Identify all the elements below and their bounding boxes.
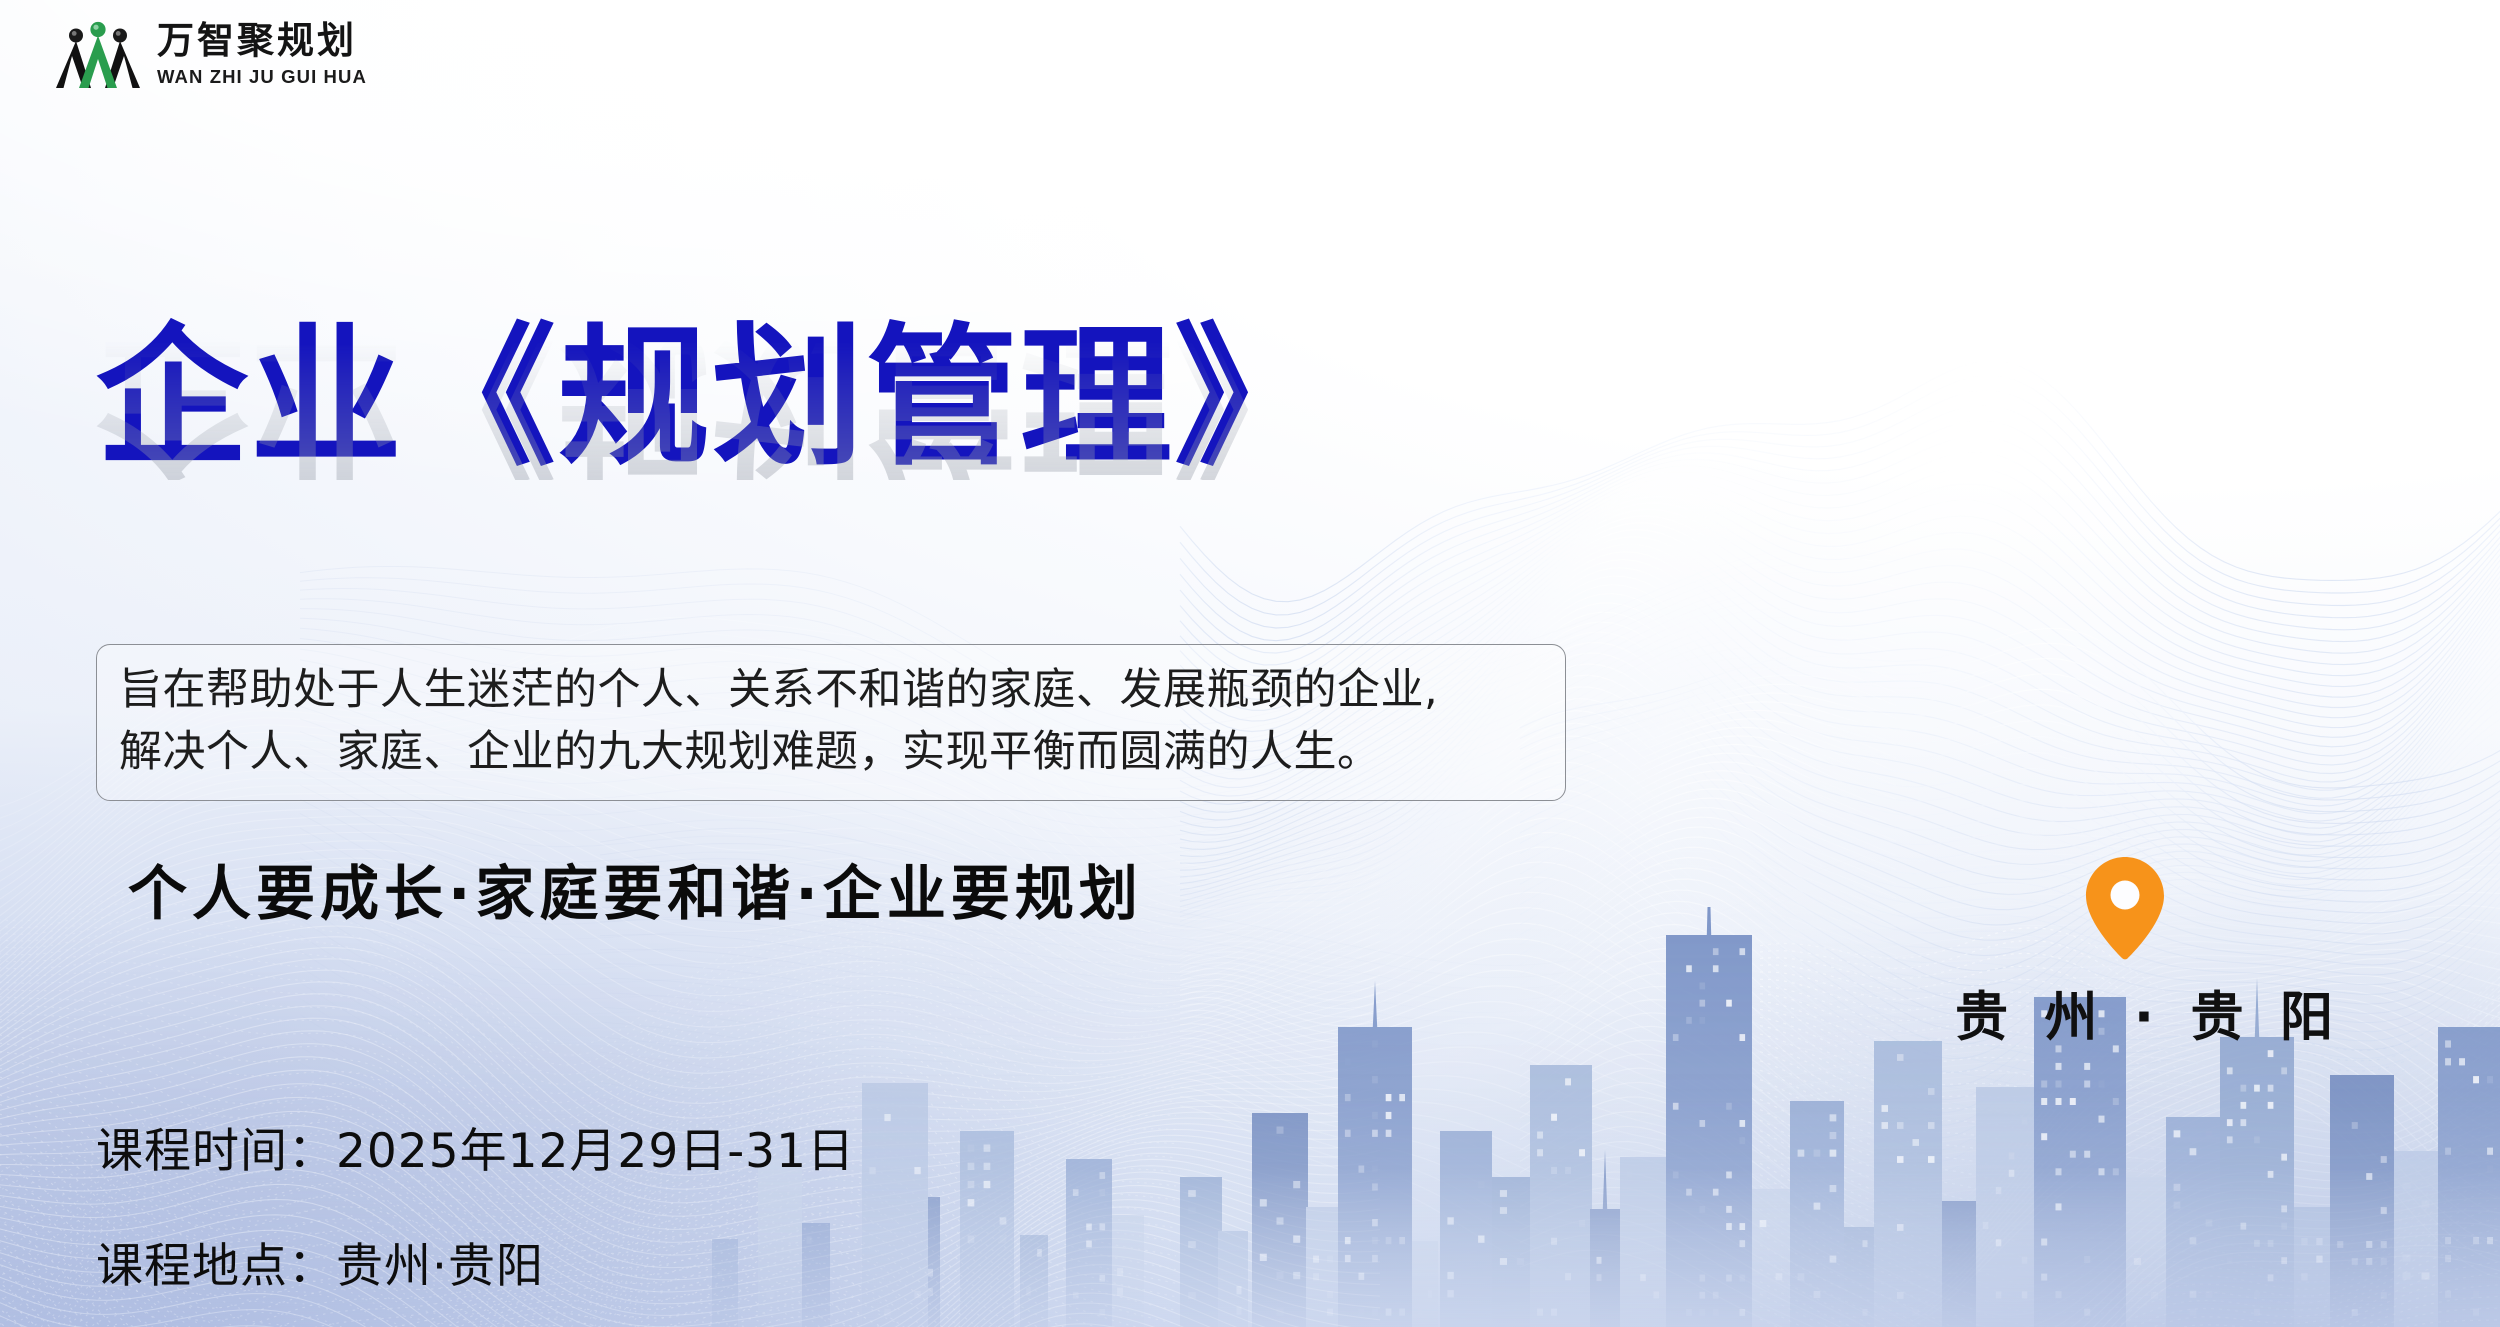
course-place: 课程地点：贵州·贵阳: [96, 1227, 855, 1296]
page-title-reflection: 企业《规划管理》: [96, 328, 1616, 480]
three-people-logo-icon: [55, 18, 141, 90]
description-box: 旨在帮助处于人生迷茫的个人、关系不和谐的家庭、发展瓶颈的企业, 解决个人、家庭、…: [96, 644, 1566, 801]
description-line-1: 旨在帮助处于人生迷茫的个人、关系不和谐的家庭、发展瓶颈的企业,: [119, 659, 1547, 721]
brand-name-en: WAN ZHI JU GUI HUA: [157, 68, 367, 87]
location-label: 贵 州 · 贵 阳: [1955, 975, 2295, 1051]
description-line-2: 解决个人、家庭、企业的九大规划难题，实现平衡而圆满的人生。: [119, 721, 1547, 783]
main-title-block: 企业《规划管理》 企业《规划管理》: [96, 322, 1616, 622]
brand-name-cn: 万智聚规划: [157, 22, 367, 59]
brand-logo[interactable]: 万智聚规划 WAN ZHI JU GUI HUA: [55, 18, 367, 90]
course-date: 课程时间：2025年12月29日-31日: [96, 1112, 855, 1181]
tagline: 个人要成长·家庭要和谐·企业要规划: [128, 846, 1143, 931]
poster-canvas: 万智聚规划 WAN ZHI JU GUI HUA 企业《规划管理》 企业《规划管…: [0, 0, 2500, 1327]
location-badge: 贵 州 · 贵 阳: [1955, 855, 2295, 1051]
course-info: 课程时间：2025年12月29日-31日 课程地点：贵州·贵阳: [96, 1112, 855, 1296]
map-pin-icon: [2084, 855, 2166, 961]
